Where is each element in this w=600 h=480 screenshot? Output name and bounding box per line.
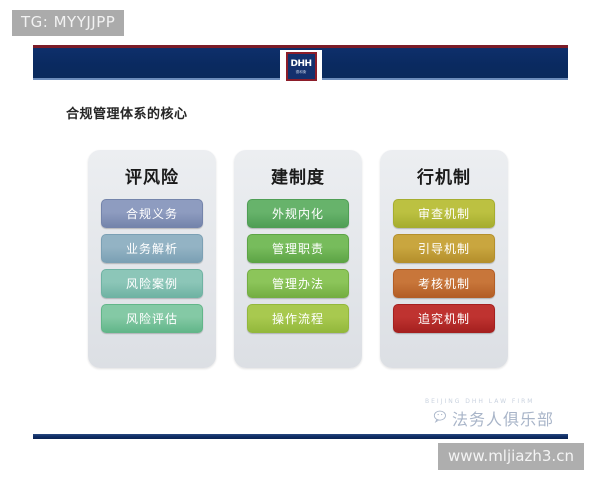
- pill-item[interactable]: 审查机制: [393, 199, 495, 228]
- pill-item[interactable]: 风险案例: [101, 269, 203, 298]
- slide-footer-rule: [33, 434, 568, 439]
- url-watermark: www.mljiazh3.cn: [438, 443, 584, 470]
- column-group: 评风险 合规义务 业务解析 风险案例 风险评估 建制度 外规内化 管理职责 管理…: [88, 150, 508, 368]
- dhh-logo: DHH 德和衡: [280, 50, 322, 83]
- column-assess-risk: 评风险 合规义务 业务解析 风险案例 风险评估: [88, 150, 216, 368]
- firm-watermark-en: BEIJING DHH LAW FIRM: [425, 398, 534, 405]
- pill-item[interactable]: 合规义务: [101, 199, 203, 228]
- pill-item[interactable]: 管理办法: [247, 269, 349, 298]
- column-heading: 建制度: [271, 163, 325, 188]
- page-title: 合规管理体系的核心: [66, 103, 188, 122]
- column-execute-mechanism: 行机制 审查机制 引导机制 考核机制 追究机制: [380, 150, 508, 368]
- pill-item[interactable]: 风险评估: [101, 304, 203, 333]
- column-heading: 评风险: [125, 163, 179, 188]
- pill-item[interactable]: 引导机制: [393, 234, 495, 263]
- pill-item[interactable]: 业务解析: [101, 234, 203, 263]
- presentation-slide: DHH 德和衡 合规管理体系的核心 评风险 合规义务 业务解析 风险案例 风险评…: [0, 0, 600, 480]
- column-heading: 行机制: [417, 163, 471, 188]
- pill-item[interactable]: 考核机制: [393, 269, 495, 298]
- pill-list: 合规义务 业务解析 风险案例 风险评估: [88, 199, 216, 333]
- pill-list: 审查机制 引导机制 考核机制 追究机制: [380, 199, 508, 333]
- dhh-logo-mark: DHH 德和衡: [286, 52, 317, 81]
- wechat-icon: [433, 410, 451, 424]
- dhh-logo-subtext: 德和衡: [296, 70, 307, 74]
- pill-item[interactable]: 追究机制: [393, 304, 495, 333]
- club-watermark-cn: 法务人俱乐部: [452, 406, 554, 430]
- pill-item[interactable]: 管理职责: [247, 234, 349, 263]
- pill-item[interactable]: 外规内化: [247, 199, 349, 228]
- pill-list: 外规内化 管理职责 管理办法 操作流程: [234, 199, 362, 333]
- column-build-system: 建制度 外规内化 管理职责 管理办法 操作流程: [234, 150, 362, 368]
- dhh-logo-text: DHH: [290, 60, 311, 69]
- pill-item[interactable]: 操作流程: [247, 304, 349, 333]
- telegram-watermark: TG: MYYJJPP: [12, 10, 124, 36]
